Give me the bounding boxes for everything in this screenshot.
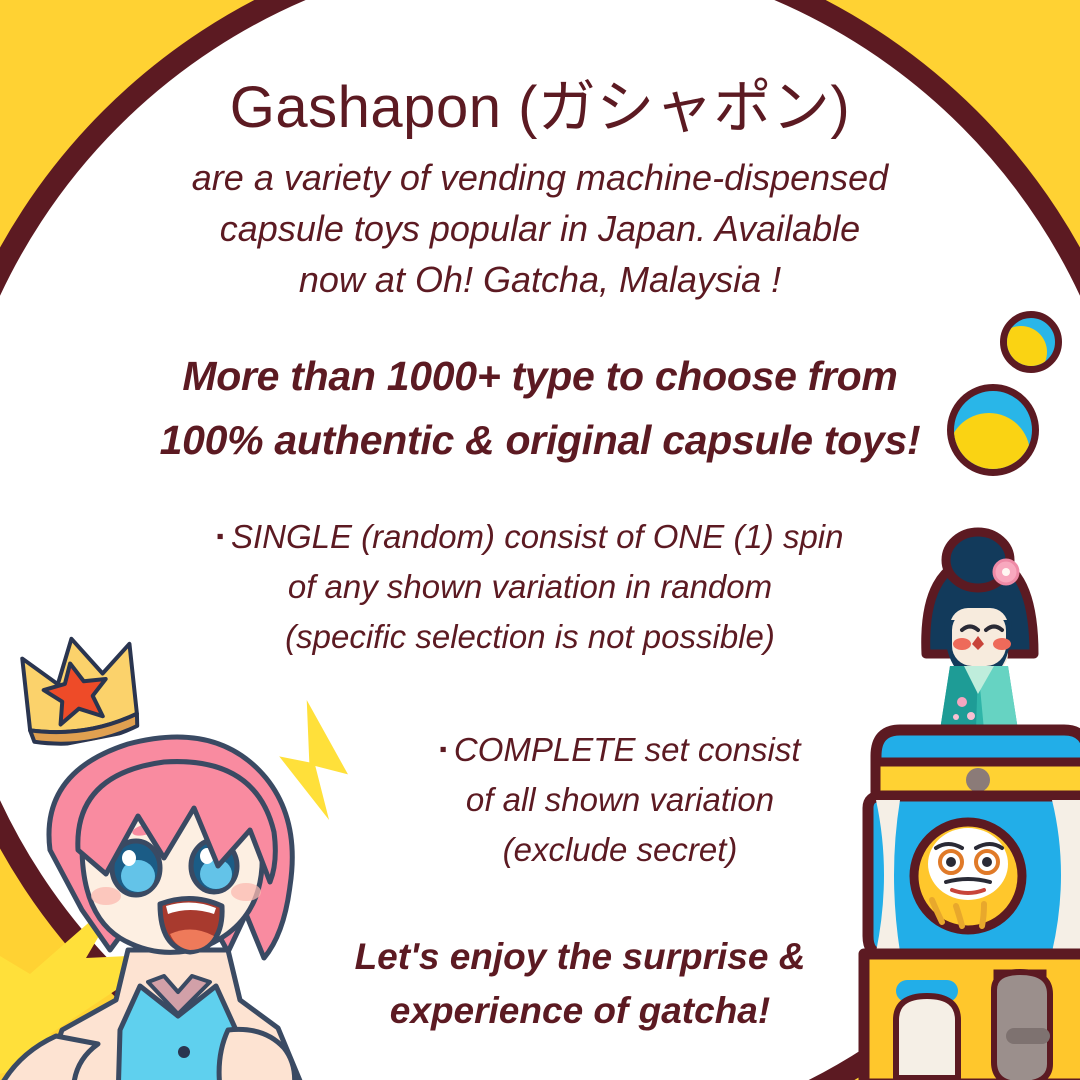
option-single-block: ▪SINGLE (random) consist of ONE (1) spin…: [150, 512, 910, 662]
closing-line: Let's enjoy the surprise &: [290, 930, 870, 984]
option-single-line: of any shown variation in random: [150, 562, 910, 612]
claims-block: More than 1000+ type to choose from 100%…: [60, 345, 1020, 472]
claim-line: 100% authentic & original capsule toys!: [60, 409, 1020, 473]
lead-line: capsule toys popular in Japan. Available: [110, 203, 970, 254]
poster-canvas: Gashapon (ガシャポン) are a variety of vendin…: [0, 0, 1080, 1080]
claim-line: More than 1000+ type to choose from: [60, 345, 1020, 409]
page-title: Gashapon (ガシャポン): [0, 78, 1080, 139]
lead-line: now at Oh! Gatcha, Malaysia !: [110, 254, 970, 305]
option-complete-line: of all shown variation: [370, 775, 870, 825]
option-single-line: (specific selection is not possible): [150, 612, 910, 662]
closing-block: Let's enjoy the surprise & experience of…: [290, 930, 870, 1037]
option-complete-line: ▪COMPLETE set consist: [370, 725, 870, 775]
option-single-line: ▪SINGLE (random) consist of ONE (1) spin: [150, 512, 910, 562]
bullet-marker-icon: ▪: [439, 738, 446, 761]
text-content: Gashapon (ガシャポン) are a variety of vendin…: [0, 0, 1080, 1080]
lead-paragraph: are a variety of vending machine-dispens…: [110, 152, 970, 305]
option-complete-block: ▪COMPLETE set consist of all shown varia…: [370, 725, 870, 875]
option-complete-text: COMPLETE set consist: [454, 731, 801, 768]
option-single-text: SINGLE (random) consist of ONE (1) spin: [231, 518, 844, 555]
closing-line: experience of gatcha!: [290, 984, 870, 1038]
option-complete-line: (exclude secret): [370, 825, 870, 875]
bullet-marker-icon: ▪: [217, 525, 224, 548]
lead-line: are a variety of vending machine-dispens…: [110, 152, 970, 203]
